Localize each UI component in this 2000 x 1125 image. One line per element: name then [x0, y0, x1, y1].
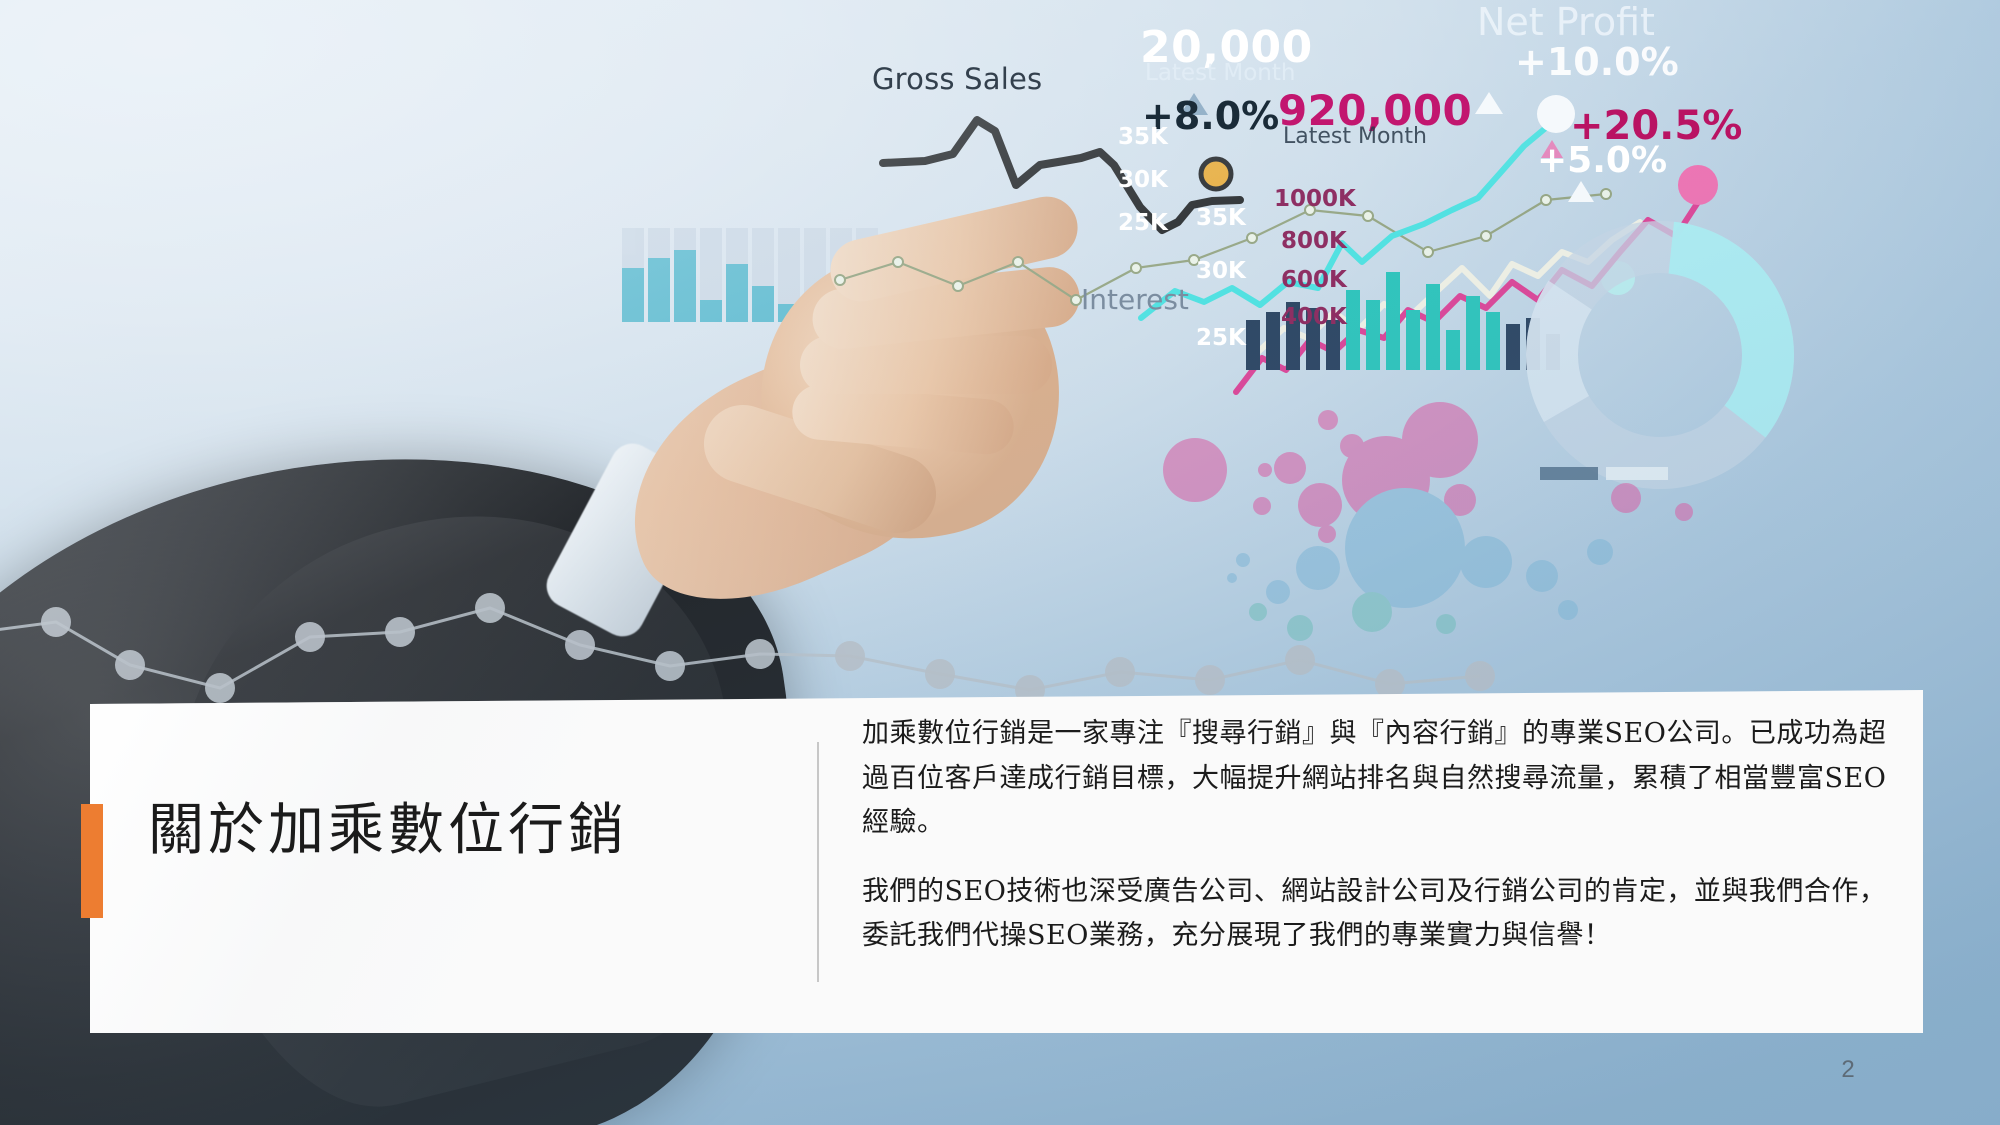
axis-label-left-35k: 35K: [1118, 124, 1168, 150]
interest-label: Interest: [1081, 283, 1189, 316]
slide-canvas: Gross Sales Interest Net Profit 20,000 L…: [0, 0, 2000, 1125]
axis-label-right-1000k: 1000K: [1274, 186, 1356, 212]
page-number: 2: [1828, 1056, 1868, 1084]
axis-label-mid-25k: 25K: [1196, 325, 1246, 351]
vertical-divider: [817, 742, 819, 982]
kpi-growth-10: +10.0%: [1515, 40, 1679, 84]
axis-label-right-400k: 400K: [1281, 304, 1347, 330]
page-title: 關於加乘數位行銷: [148, 800, 768, 862]
axis-label-right-800k: 800K: [1281, 228, 1347, 254]
axis-label-mid-30k: 30K: [1196, 258, 1246, 284]
axis-label-mid-35k: 35K: [1196, 205, 1246, 231]
kpi-growth-5: +5.0%: [1537, 140, 1667, 181]
body-paragraph-2: 我們的SEO技術也深受廣告公司、網站設計公司及行銷公司的肯定，並與我們合作，委託…: [862, 870, 1897, 959]
kpi-gross-sales-caption: Latest Month: [1145, 60, 1295, 86]
axis-label-left-25k: 25K: [1118, 210, 1168, 236]
kpi-net-profit-caption: Latest Month: [1283, 124, 1427, 149]
axis-label-right-600k: 600K: [1281, 267, 1347, 293]
body-copy: 加乘數位行銷是一家專注『搜尋行銷』與『內容行銷』的專業SEO公司。已成功為超過百…: [862, 712, 1897, 959]
gross-sales-label: Gross Sales: [872, 62, 1042, 96]
axis-label-left-30k: 30K: [1118, 167, 1168, 193]
accent-bar: [81, 804, 103, 918]
body-paragraph-1: 加乘數位行銷是一家專注『搜尋行銷』與『內容行銷』的專業SEO公司。已成功為超過百…: [862, 712, 1897, 846]
net-profit-label: Net Profit: [1477, 0, 1655, 44]
